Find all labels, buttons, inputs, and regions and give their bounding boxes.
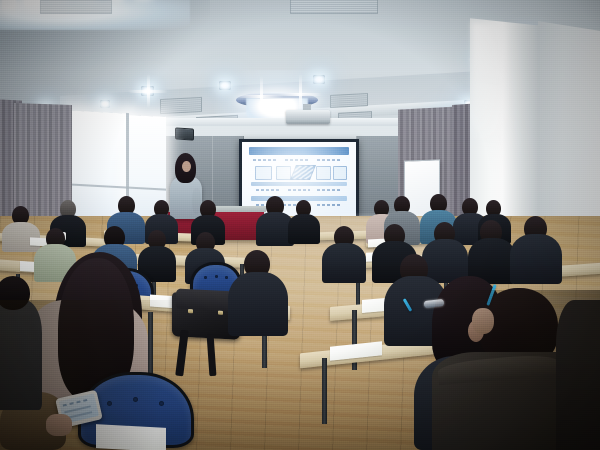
slide-text-line [317,159,342,161]
slide-arrow-icon [290,165,316,180]
ceiling-vent [290,0,378,14]
presenter-face [182,161,191,172]
slide-diagram-box [316,166,331,180]
projector [286,110,330,124]
attendee-body [322,243,366,283]
attendee-body [510,234,562,284]
slide-section-bar [251,182,347,187]
slide-text-line [253,159,276,161]
ceiling-vent [160,97,202,114]
downlight-icon [100,100,110,108]
slide-text-line [317,204,340,206]
floor-shadow-left [0,300,230,450]
slide-text-line [256,189,281,191]
photo-scene [0,0,600,450]
floor-shadow-right [380,290,600,450]
slide-text-line [288,189,311,191]
downlight-icon [141,86,154,96]
slide-diagram-box [255,166,273,180]
slide-title-banner [249,147,349,155]
desk-leg [322,358,327,424]
slide-section-bar [251,196,347,201]
attendee-body [288,214,320,244]
ceiling-vent [40,0,112,14]
slide-text-line [317,189,340,191]
slide-diagram-box [333,166,346,180]
attendee-body [228,272,288,336]
slide-diagram-box [276,166,291,180]
wall-speaker [175,127,194,140]
slide-text-line [285,159,308,161]
pillar-highlight [472,22,506,146]
